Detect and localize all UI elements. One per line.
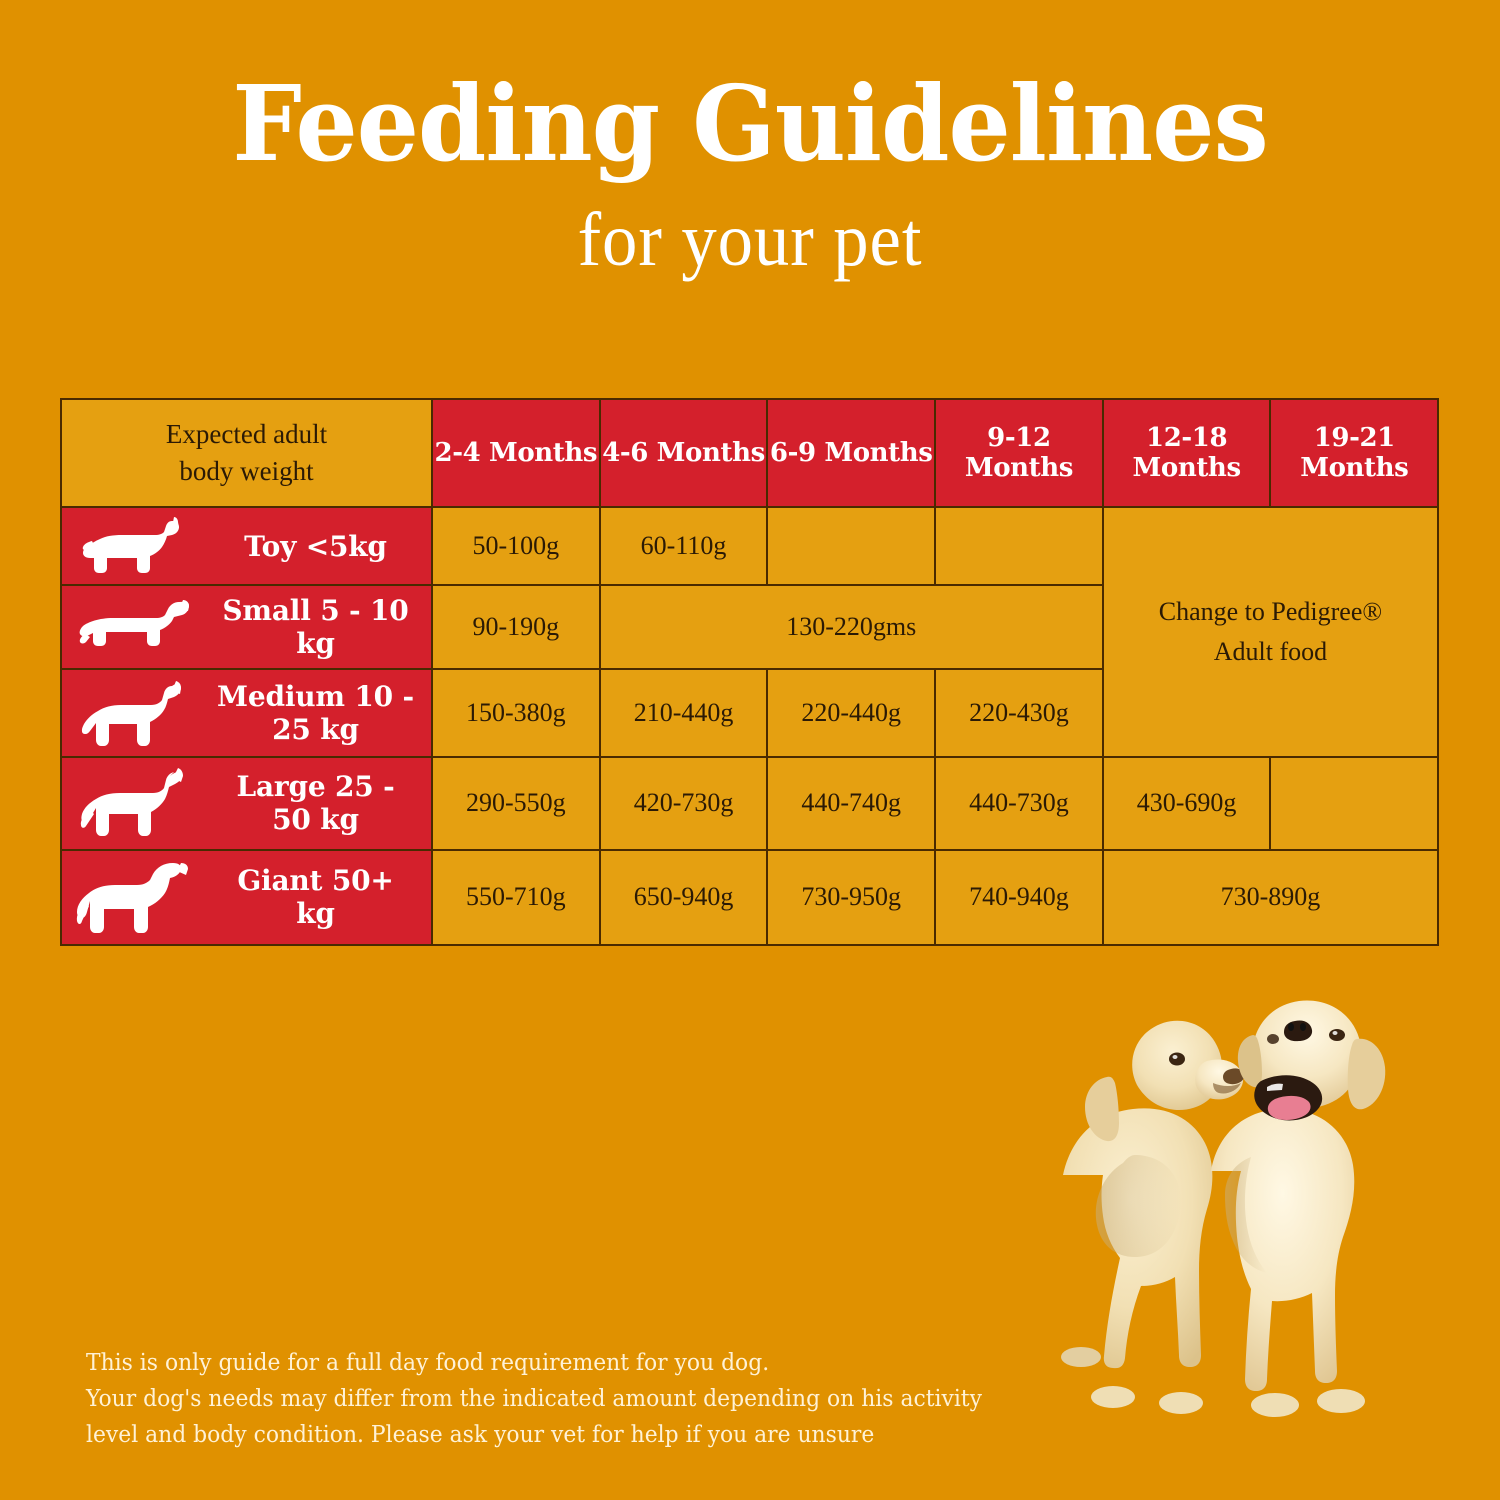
cell-small-2-4-months: 90-190g bbox=[432, 585, 600, 668]
breed-name-small: Small 5 - 10 kg bbox=[214, 594, 431, 660]
column-header-19-21-months: 19-21 Months bbox=[1270, 399, 1438, 507]
husky-dog-icon bbox=[62, 766, 214, 840]
cell-large-2-4-months: 290-550g bbox=[432, 757, 600, 850]
cell-toy-4-6-months: 60-110g bbox=[600, 507, 768, 585]
breed-label-giant: Giant 50+ kg bbox=[61, 850, 432, 945]
column-header-body-weight: Expected adult body weight bbox=[61, 399, 432, 507]
disclaimer-line-2: Your dog's needs may differ from the ind… bbox=[86, 1382, 1036, 1418]
cell-large-12-18-months: 430-690g bbox=[1103, 757, 1271, 850]
feeding-guidelines-table-wrapper: Expected adult body weight 2-4 Months 4-… bbox=[60, 398, 1438, 946]
cell-large-19-21-months bbox=[1270, 757, 1438, 850]
column-header-6-9-months: 6-9 Months bbox=[767, 399, 935, 507]
body-weight-header-line1: Expected adult bbox=[72, 416, 421, 453]
cell-giant-2-4-months: 550-710g bbox=[432, 850, 600, 945]
table-row-large: Large 25 - 50 kg 290-550g 420-730g 440-7… bbox=[61, 757, 1438, 850]
cell-medium-2-4-months: 150-380g bbox=[432, 669, 600, 757]
cell-change-to-adult-food-note: Change to Pedigree® Adult food bbox=[1103, 507, 1438, 756]
dachshund-dog-icon bbox=[62, 598, 214, 656]
table-row-toy: Toy <5kg 50-100g 60-110g Change to Pedig… bbox=[61, 507, 1438, 585]
column-header-9-12-months: 9-12 Months bbox=[935, 399, 1103, 507]
body-weight-header-line2: body weight bbox=[72, 453, 421, 490]
shepherd-dog-icon bbox=[62, 678, 214, 748]
cell-large-9-12-months: 440-730g bbox=[935, 757, 1103, 850]
cell-medium-6-9-months: 220-440g bbox=[767, 669, 935, 757]
feeding-guidelines-table: Expected adult body weight 2-4 Months 4-… bbox=[60, 398, 1439, 946]
two-labrador-puppies-photo bbox=[985, 965, 1455, 1435]
disclaimer-line-1: This is only guide for a full day food r… bbox=[86, 1346, 1036, 1382]
cell-giant-12-21-months: 730-890g bbox=[1103, 850, 1438, 945]
cell-giant-4-6-months: 650-940g bbox=[600, 850, 768, 945]
breed-name-medium: Medium 10 - 25 kg bbox=[214, 680, 431, 746]
breed-label-small: Small 5 - 10 kg bbox=[61, 585, 432, 668]
cell-large-4-6-months: 420-730g bbox=[600, 757, 768, 850]
cell-giant-9-12-months: 740-940g bbox=[935, 850, 1103, 945]
cell-medium-4-6-months: 210-440g bbox=[600, 669, 768, 757]
cell-toy-9-12-months bbox=[935, 507, 1103, 585]
cell-toy-2-4-months: 50-100g bbox=[432, 507, 600, 585]
breed-name-giant: Giant 50+ kg bbox=[214, 864, 431, 930]
breed-name-toy: Toy <5kg bbox=[214, 530, 431, 563]
cell-small-4-6-to-9-12-months: 130-220gms bbox=[600, 585, 1103, 668]
disclaimer-text: This is only guide for a full day food r… bbox=[86, 1346, 1036, 1454]
cell-toy-6-9-months bbox=[767, 507, 935, 585]
table-row-giant: Giant 50+ kg 550-710g 650-940g 730-950g … bbox=[61, 850, 1438, 945]
page-subtitle: for your pet bbox=[53, 202, 1448, 278]
breed-name-large: Large 25 - 50 kg bbox=[214, 770, 431, 836]
page-title: Feeding Guidelines bbox=[45, 72, 1455, 176]
table-header-row: Expected adult body weight 2-4 Months 4-… bbox=[61, 399, 1438, 507]
breed-label-large: Large 25 - 50 kg bbox=[61, 757, 432, 850]
disclaimer-line-3: level and body condition. Please ask you… bbox=[86, 1418, 1036, 1454]
corgi-dog-icon bbox=[62, 515, 214, 577]
column-header-12-18-months: 12-18 Months bbox=[1103, 399, 1271, 507]
cell-medium-9-12-months: 220-430g bbox=[935, 669, 1103, 757]
cell-large-6-9-months: 440-740g bbox=[767, 757, 935, 850]
column-header-2-4-months: 2-4 Months bbox=[432, 399, 600, 507]
breed-label-toy: Toy <5kg bbox=[61, 507, 432, 585]
adult-note-line1: Change to Pedigree® bbox=[1104, 592, 1437, 632]
mastiff-dog-icon bbox=[62, 859, 214, 935]
column-header-4-6-months: 4-6 Months bbox=[600, 399, 768, 507]
adult-note-line2: Adult food bbox=[1104, 632, 1437, 672]
page-header: Feeding Guidelines for your pet bbox=[0, 72, 1500, 278]
cell-giant-6-9-months: 730-950g bbox=[767, 850, 935, 945]
breed-label-medium: Medium 10 - 25 kg bbox=[61, 669, 432, 757]
